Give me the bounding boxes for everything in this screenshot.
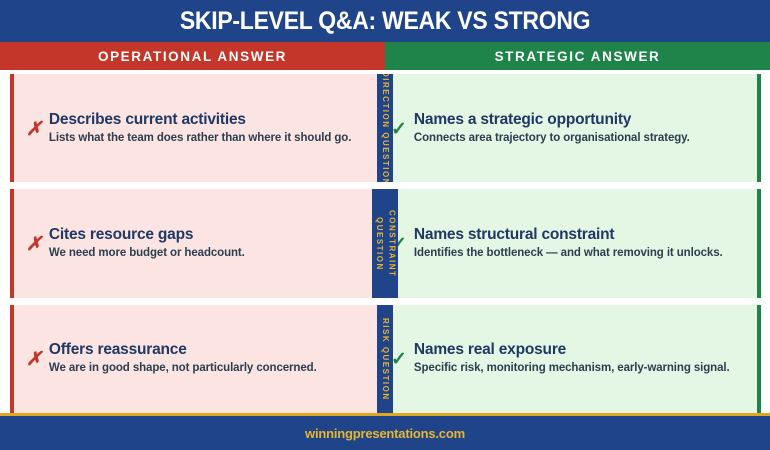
strong-entry: ✓ Names real exposure Specific risk, mon… [391, 341, 730, 376]
title-bar: SKIP-LEVEL Q&A: WEAK VS STRONG [0, 0, 770, 42]
infographic-poster: SKIP-LEVEL Q&A: WEAK VS STRONG OPERATION… [0, 0, 770, 450]
row-category-label: CONSTRAINT QUESTION [373, 189, 398, 297]
strong-entry-title: Names structural constraint [414, 226, 723, 244]
row-category-tab: RISK QUESTION [377, 305, 393, 413]
strong-entry-subtitle: Connects area trajectory to organisation… [414, 131, 690, 146]
row-category-tab: DIRECTION QUESTION [377, 74, 393, 182]
footer-bar: winningpresentations.com [0, 413, 770, 450]
column-header-strategic: STRATEGIC ANSWER [385, 42, 770, 70]
strong-entry-subtitle: Identifies the bottleneck — and what rem… [414, 246, 723, 261]
weak-entry-title: Describes current activities [49, 111, 351, 129]
strong-entry-body: Names real exposure Specific risk, monit… [414, 341, 730, 376]
strong-answer-card: ✓ Names structural constraint Identifies… [385, 189, 761, 297]
check-icon: ✓ [391, 350, 407, 369]
cross-icon: ✗ [26, 235, 42, 254]
row-category-label: RISK QUESTION [379, 318, 391, 401]
comparison-row: ✗ Cites resource gaps We need more budge… [0, 189, 770, 297]
page-title: SKIP-LEVEL Q&A: WEAK VS STRONG [180, 7, 590, 36]
row-category-label: DIRECTION QUESTION [379, 74, 391, 182]
strong-entry-subtitle: Specific risk, monitoring mechanism, ear… [414, 361, 730, 376]
weak-entry-subtitle: We are in good shape, not particularly c… [49, 361, 317, 376]
comparison-row: ✗ Offers reassurance We are in good shap… [0, 305, 770, 413]
weak-entry-body: Cites resource gaps We need more budget … [49, 226, 245, 261]
row-category-tab: CONSTRAINT QUESTION [372, 189, 398, 297]
strong-entry: ✓ Names a strategic opportunity Connects… [391, 111, 690, 146]
check-icon: ✓ [391, 120, 407, 139]
comparison-rows: ✗ Describes current activities Lists wha… [0, 70, 770, 413]
strong-entry-body: Names a strategic opportunity Connects a… [414, 111, 690, 146]
strong-entry-title: Names real exposure [414, 341, 730, 359]
footer-website-label: winningpresentations.com [305, 426, 465, 441]
column-header-bands: OPERATIONAL ANSWER STRATEGIC ANSWER [0, 42, 770, 70]
weak-column-cell: ✗ Cites resource gaps We need more budge… [0, 189, 385, 297]
strong-column-cell: ✓ Names real exposure Specific risk, mon… [385, 305, 770, 413]
strong-column-cell: ✓ Names structural constraint Identifies… [385, 189, 770, 297]
weak-entry-title: Offers reassurance [49, 341, 317, 359]
weak-answer-card: ✗ Describes current activities Lists wha… [10, 74, 385, 182]
column-header-strategic-label: STRATEGIC ANSWER [495, 49, 661, 64]
weak-entry-body: Offers reassurance We are in good shape,… [49, 341, 317, 376]
strong-entry-body: Names structural constraint Identifies t… [414, 226, 723, 261]
weak-entry-body: Describes current activities Lists what … [49, 111, 351, 146]
weak-column-cell: ✗ Describes current activities Lists wha… [0, 74, 385, 182]
weak-answer-card: ✗ Offers reassurance We are in good shap… [10, 305, 385, 413]
strong-answer-card: ✓ Names a strategic opportunity Connects… [385, 74, 761, 182]
cross-icon: ✗ [26, 350, 42, 369]
weak-entry: ✗ Cites resource gaps We need more budge… [26, 226, 245, 261]
comparison-row: ✗ Describes current activities Lists wha… [0, 74, 770, 182]
weak-entry-subtitle: Lists what the team does rather than whe… [49, 131, 351, 146]
column-header-operational: OPERATIONAL ANSWER [0, 42, 385, 70]
strong-entry-title: Names a strategic opportunity [414, 111, 690, 129]
weak-entry-title: Cites resource gaps [49, 226, 245, 244]
strong-answer-card: ✓ Names real exposure Specific risk, mon… [385, 305, 761, 413]
cross-icon: ✗ [26, 120, 42, 139]
weak-entry-subtitle: We need more budget or headcount. [49, 246, 245, 261]
column-header-operational-label: OPERATIONAL ANSWER [98, 49, 287, 64]
strong-column-cell: ✓ Names a strategic opportunity Connects… [385, 74, 770, 182]
strong-entry: ✓ Names structural constraint Identifies… [391, 226, 723, 261]
weak-column-cell: ✗ Offers reassurance We are in good shap… [0, 305, 385, 413]
weak-answer-card: ✗ Cites resource gaps We need more budge… [10, 189, 385, 297]
weak-entry: ✗ Offers reassurance We are in good shap… [26, 341, 317, 376]
weak-entry: ✗ Describes current activities Lists wha… [26, 111, 351, 146]
